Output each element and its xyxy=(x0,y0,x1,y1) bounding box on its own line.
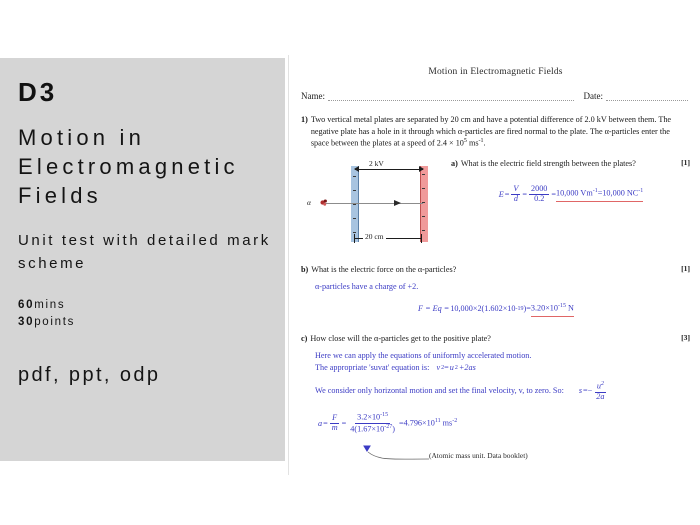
denominator-m: m xyxy=(330,424,340,433)
accel-answer-text: 4.796×10 xyxy=(404,419,435,428)
name-label: Name: xyxy=(301,91,328,101)
part-c-working: Here we can apply the equations of unifo… xyxy=(301,350,690,401)
annotation-block: (Atomic mass unit. Data booklet) xyxy=(301,437,690,467)
numerator-force-value: 3.2×10-15 xyxy=(355,412,390,424)
acceleration-equation: a = F m = 3.2×10-15 4(1.67×10-27) = 4.79… xyxy=(317,412,457,434)
part-a-working: E = V d = 2000 0.2 = xyxy=(451,185,690,204)
part-c-block: c) How close will the α-particles get to… xyxy=(301,333,690,467)
capacitor-plates-diagram: α 2 kV 20 cm xyxy=(307,158,443,250)
answer-2-text: 10,000 NC xyxy=(602,189,638,198)
numerator-exponent: 2 xyxy=(601,381,604,387)
part-a-text: What is the electric field strength betw… xyxy=(461,158,666,169)
part-c-line-1: Here we can apply the equations of unifo… xyxy=(315,350,690,362)
tick xyxy=(353,232,356,233)
stem-line-3b: ms xyxy=(467,139,479,148)
acceleration-answer: 4.796×1011 ms-2 xyxy=(404,417,458,430)
fraction-u2-over-2a: u2 2a xyxy=(594,381,606,401)
worksheet-title: Motion in Electromagnetic Fields xyxy=(299,67,692,77)
duration-unit: mins xyxy=(34,299,65,311)
eq-lhs-F: F = Eq = xyxy=(417,303,450,315)
part-b-text: What is the electric force on the α-part… xyxy=(311,264,666,275)
annotation-text: (Atomic mass unit. Data booklet) xyxy=(429,451,528,460)
distance-label: 20 cm xyxy=(363,232,386,241)
stem-line-1: Two vertical metal plates are separated … xyxy=(311,115,636,124)
part-a-letter: a) xyxy=(451,158,461,169)
question-text: Two vertical metal plates are separated … xyxy=(311,114,690,150)
numerator-force-text: 3.2×10 xyxy=(357,413,380,422)
force-expression: 10,000×2(1.602×10 xyxy=(450,303,515,315)
eq-sign-2: = xyxy=(522,189,527,201)
part-c-question: c) How close will the α-particles get to… xyxy=(301,333,690,344)
part-b-question: b) What is the electric force on the α-p… xyxy=(301,264,690,275)
answer-1-text: 10,000 Vm xyxy=(556,189,593,198)
points-value: 30 xyxy=(18,316,34,328)
accel-eq-1: = xyxy=(323,418,328,430)
resource-meta: 60mins 30points xyxy=(18,297,271,330)
suvat-tail: +2as xyxy=(458,362,477,374)
positive-plate xyxy=(420,166,428,242)
negative-plate xyxy=(351,166,359,242)
promo-panel: D3 Motion in Electromagnetic Fields Unit… xyxy=(0,58,285,461)
accel-eq-2: = xyxy=(342,418,347,430)
fraction-F-over-m: F m xyxy=(330,414,340,433)
part-a-column: a) What is the electric field strength b… xyxy=(443,158,690,204)
answer-electric-force: 3.20×10-15 N xyxy=(531,302,574,317)
answer-force-text: 3.20×10 xyxy=(531,304,558,313)
date-fill-line xyxy=(606,91,688,101)
fraction-V-over-d: V d xyxy=(511,185,520,204)
part-c-text: How close will the α-particles get to th… xyxy=(310,333,666,344)
denominator-mass-end: ) xyxy=(392,425,395,434)
part-a-question: a) What is the electric field strength b… xyxy=(451,158,690,169)
horizontal-motion-note: We consider only horizontal motion and s… xyxy=(315,385,564,397)
suvat-intro: The appropriate 'suvat' equation is: xyxy=(315,363,429,372)
duration-line: 60mins xyxy=(18,297,271,313)
diagram-and-part-a-row: α 2 kV 20 cm a) What is the electric fie… xyxy=(301,158,690,250)
accel-answer-unit: ms xyxy=(441,419,453,428)
accel-answer-unit-exponent: -2 xyxy=(452,418,457,424)
part-c-line-2: The appropriate 'suvat' equation is: v2=… xyxy=(315,362,690,374)
acceleration-working: a = F m = 3.2×10-15 4(1.67×10-27) = 4.79… xyxy=(301,412,690,434)
answer-field-strength-Vm: 10,000 Vm-1=10,000 NC-1 xyxy=(556,187,643,202)
answer-force-exponent: -15 xyxy=(558,303,566,309)
slide-canvas: D3 Motion in Electromagnetic Fields Unit… xyxy=(0,0,700,525)
negative-plate-ticks xyxy=(351,166,358,242)
eq-sign-1: = xyxy=(505,189,510,201)
duration-value: 60 xyxy=(18,299,34,311)
part-b-working: F = Eq = 10,000×2(1.602×10-19) = 3.20×10… xyxy=(301,302,690,317)
eq-lhs-E: E xyxy=(498,189,505,201)
tick xyxy=(422,216,425,217)
displacement-equals: =− xyxy=(583,385,592,397)
fraction-2000-over-0.2: 2000 0.2 xyxy=(529,185,549,204)
numerator-force-exponent: -15 xyxy=(380,412,388,418)
voltage-dimension-arrow xyxy=(355,169,423,170)
tick xyxy=(422,188,425,189)
tick xyxy=(353,204,356,205)
points-unit: points xyxy=(34,316,75,328)
part-a-marks: [1] xyxy=(666,158,690,169)
part-b-block: b) What is the electric force on the α-p… xyxy=(301,264,690,317)
worksheet-preview: Motion in Electromagnetic Fields Name: D… xyxy=(288,55,700,475)
spacer xyxy=(451,169,690,185)
tick xyxy=(353,176,356,177)
suvat-equation: v2=u2+2as xyxy=(436,362,477,374)
part-b-letter: b) xyxy=(301,264,311,275)
stem-line-3end: . xyxy=(484,139,486,148)
positive-plate-ticks xyxy=(421,166,428,242)
date-label: Date: xyxy=(584,91,607,101)
denominator-mass-value: 4(1.67×10-27) xyxy=(348,424,397,435)
part-b-note: α-particles have a charge of +2. xyxy=(301,281,690,293)
denominator-0.2: 0.2 xyxy=(532,195,546,204)
alpha-source-icon xyxy=(319,198,328,207)
question-number: 1) xyxy=(301,114,311,150)
force-expression-exponent: -19 xyxy=(516,305,524,314)
name-date-row: Name: Date: xyxy=(301,91,688,101)
part-b-marks: [1] xyxy=(666,264,690,275)
resource-subtitle: Unit test with detailed mark scheme xyxy=(18,230,271,275)
file-formats: pdf, ppt, odp xyxy=(18,364,271,387)
tick xyxy=(353,218,356,219)
displacement-equation: s =− u2 2a xyxy=(578,381,609,401)
denominator-d: d xyxy=(512,195,520,204)
name-fill-line xyxy=(328,91,574,101)
resource-code: D3 xyxy=(18,78,271,107)
part-c-letter: c) xyxy=(301,333,310,344)
answer-force-unit: N xyxy=(566,304,574,313)
electric-force-equation: F = Eq = 10,000×2(1.602×10-19) = 3.20×10… xyxy=(417,302,574,317)
answer-2-exponent: -1 xyxy=(638,188,643,194)
tick xyxy=(353,190,356,191)
part-c-line-3: We consider only horizontal motion and s… xyxy=(315,381,690,401)
field-strength-equation: E = V d = 2000 0.2 = xyxy=(498,185,644,204)
denominator-2a: 2a xyxy=(594,393,606,402)
alpha-particle-beam-arrow xyxy=(325,203,423,204)
voltage-label: 2 kV xyxy=(367,159,386,168)
question-1: 1) Two vertical metal plates are separat… xyxy=(301,114,690,467)
tick xyxy=(422,230,425,231)
tick xyxy=(422,174,425,175)
part-c-marks: [3] xyxy=(666,333,690,344)
fraction-force-over-mass: 3.2×10-15 4(1.67×10-27) xyxy=(348,412,397,434)
alpha-symbol-label: α xyxy=(307,198,311,207)
question-1-stem: 1) Two vertical metal plates are separat… xyxy=(301,114,690,150)
resource-title: Motion in Electromagnetic Fields xyxy=(18,123,271,211)
denominator-mass-text: 4(1.67×10 xyxy=(350,425,384,434)
numerator-u-squared: u2 xyxy=(595,381,606,393)
points-line: 30points xyxy=(18,314,271,330)
